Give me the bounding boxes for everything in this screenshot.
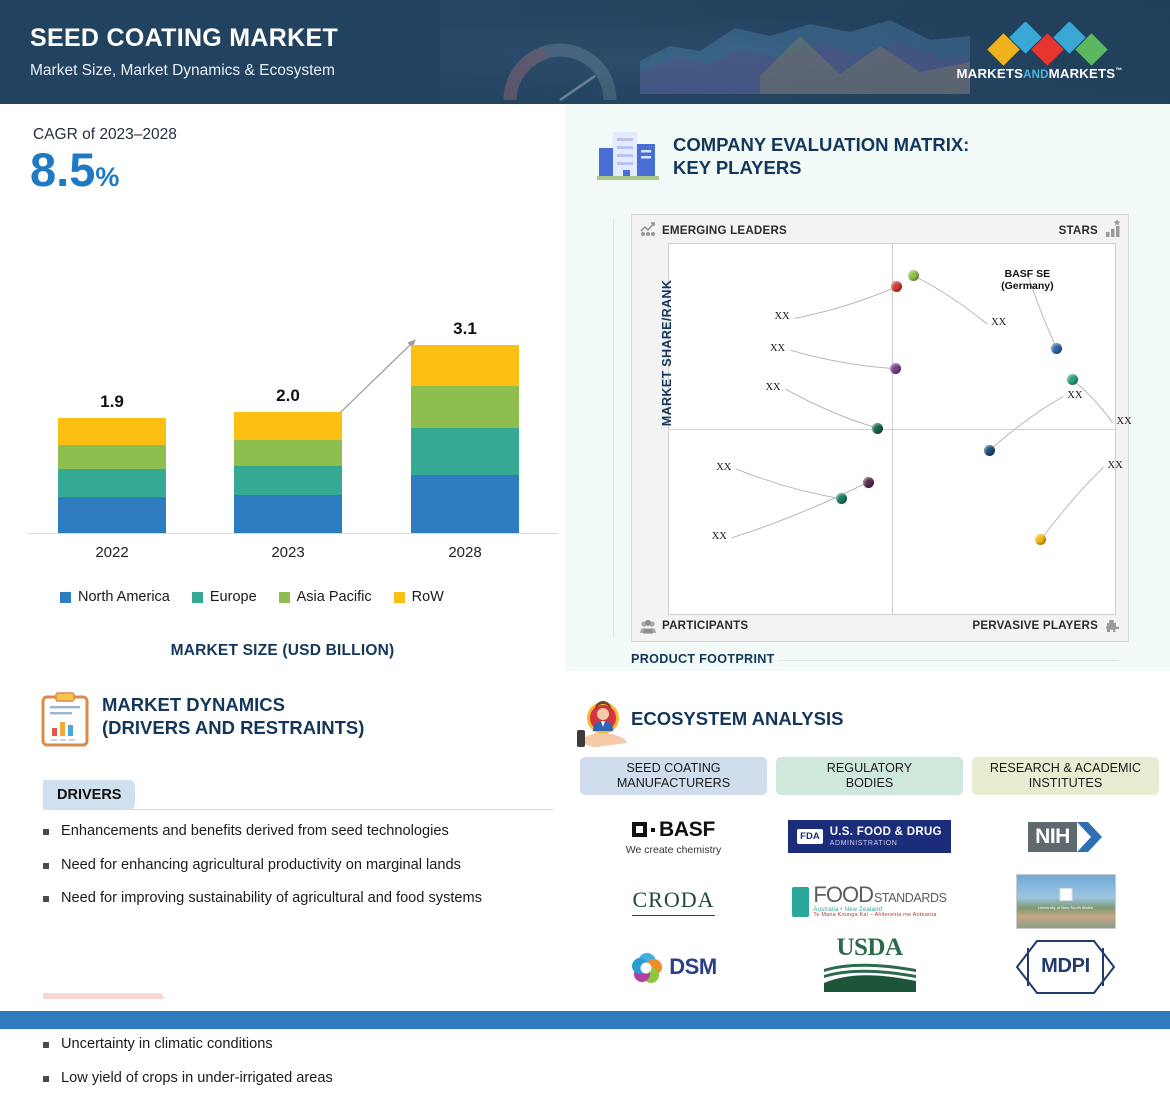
matrix-point-label: XX <box>712 531 727 542</box>
left-column: CAGR of 2023–2028 8.5% 1.920222.020233.1… <box>0 104 565 999</box>
bar-segment-north-america <box>411 475 519 533</box>
market-dynamics-title: MARKET DYNAMICS (DRIVERS AND RESTRAINTS) <box>102 694 542 740</box>
bar-stack <box>411 345 519 533</box>
bottom-accent-bar <box>0 1011 1170 1029</box>
ecosystem-heading-research: RESEARCH & ACADEMICINSTITUTES <box>972 757 1159 795</box>
bullet-square-icon <box>43 896 49 902</box>
usda-name: USDA <box>824 936 916 960</box>
matrix-company-label: BASF SE(Germany) <box>989 268 1065 293</box>
matrix-y-axis-rule <box>613 218 614 638</box>
logo-basf: BASF We create chemistry <box>580 804 767 869</box>
clipboard-chart-icon <box>40 692 90 748</box>
bar-total-label: 2.0 <box>234 386 342 406</box>
right-column: COMPANY EVALUATION MATRIX: KEY PLAYERS E… <box>565 104 1170 999</box>
matrix-leader-line <box>794 287 896 319</box>
bullet-square-icon <box>43 863 49 869</box>
matrix-company-label-line2: (Germany) <box>1001 280 1054 292</box>
logo-unsw: University of New South Wales <box>972 869 1159 934</box>
matrix-x-axis-rule <box>779 660 1119 661</box>
driver-item: Enhancements and benefits derived from s… <box>43 822 543 842</box>
drivers-label: DRIVERS <box>43 780 135 810</box>
logo-dsm: DSM <box>580 934 767 999</box>
header-chart-graphic <box>640 6 970 94</box>
bar-segment-europe <box>234 466 342 496</box>
food-standards-sub2: Te Mana Kounga Kai – Ahitereiria me Aote… <box>813 913 946 919</box>
legend-item-asia-pacific[interactable]: Asia Pacific <box>279 589 372 605</box>
dsm-swirl-icon <box>630 950 664 984</box>
matrix-point-label: XX <box>774 311 789 322</box>
logo-nih: NIH <box>972 804 1159 869</box>
matrix-company-dot[interactable] <box>1051 343 1062 354</box>
mdpi-name: MDPI <box>1041 955 1090 978</box>
bullet-square-icon <box>43 1042 49 1048</box>
legend-swatch-icon <box>60 592 71 603</box>
market-size-stacked-bar-chart: 1.920222.020233.12028 <box>28 269 558 569</box>
page-header: SEED COATING MARKET Market Size, Market … <box>0 0 1170 104</box>
matrix-company-dot[interactable] <box>863 477 874 488</box>
quadrant-label-participants: PARTICIPANTS <box>662 619 748 632</box>
bar-segment-europe <box>411 428 519 475</box>
matrix-company-dot[interactable] <box>984 445 995 456</box>
basf-name: BASF <box>659 818 715 842</box>
chart-axis-line <box>28 533 558 534</box>
quadrant-label-emerging-leaders: EMERGING LEADERS <box>662 224 787 237</box>
chart-caption: MARKET SIZE (USD BILLION) <box>0 642 565 660</box>
emerging-leaders-icon <box>640 222 656 237</box>
unsw-crest-icon <box>1059 888 1072 901</box>
matrix-point-label: XX <box>765 382 780 393</box>
bar-segment-row <box>58 418 166 445</box>
legend-label: RoW <box>412 589 444 605</box>
legend-item-europe[interactable]: Europe <box>192 589 257 605</box>
matrix-x-axis-label: PRODUCT FOOTPRINT <box>631 652 775 666</box>
legend-swatch-icon <box>394 592 405 603</box>
legend-label: North America <box>78 589 170 605</box>
cagr-percent-sign: % <box>95 162 119 192</box>
dsm-name: DSM <box>669 954 716 980</box>
usda-field-icon <box>824 959 916 992</box>
market-dynamics-title-line2: (DRIVERS AND RESTRAINTS) <box>102 717 542 740</box>
ecosystem-heading-regulatory: REGULATORYBODIES <box>776 757 963 795</box>
company-matrix-title-line2: KEY PLAYERS <box>673 157 1133 180</box>
bottom-spacer <box>0 999 1170 1011</box>
logo-part2: MARKETS <box>1049 66 1116 81</box>
quadrant-label-stars: STARS <box>1059 224 1098 237</box>
bar-segment-row <box>411 345 519 386</box>
matrix-company-dot[interactable] <box>1067 374 1078 385</box>
matrix-leader-line <box>785 389 877 428</box>
matrix-frame: EMERGING LEADERS STARS PARTICI <box>631 214 1129 642</box>
eco-head-1-line1: SEED COATING <box>626 761 720 775</box>
matrix-plot-area: XXXXBASF SE(Germany)XXXXXXXXXXXXXX <box>668 243 1116 615</box>
ecosystem-heading-manufacturers: SEED COATINGMANUFACTURERS <box>580 757 767 795</box>
fda-line1: U.S. FOOD & DRUG <box>830 826 942 839</box>
restraint-item: Low yield of crops in under-irrigated ar… <box>43 1069 543 1089</box>
page-subtitle: Market Size, Market Dynamics & Ecosystem <box>30 62 335 80</box>
drivers-band: DRIVERS <box>43 780 553 810</box>
logo-diamonds-icon <box>947 22 1132 68</box>
legend-item-row[interactable]: RoW <box>394 589 444 605</box>
food-standards-mark-icon <box>792 887 809 917</box>
bar-total-label: 1.9 <box>58 392 166 412</box>
chart-legend: North AmericaEuropeAsia PacificRoW <box>60 589 530 605</box>
restraints-list: Uncertainty in climatic conditionsLow yi… <box>43 1035 543 1102</box>
matrix-company-dot[interactable] <box>890 363 901 374</box>
matrix-point-label: XX <box>770 343 785 354</box>
nih-name: NIH <box>1028 822 1077 852</box>
page-title: SEED COATING MARKET <box>30 24 338 53</box>
bar-segment-asia-pacific <box>234 440 342 466</box>
unsw-name: University of New South Wales <box>1017 905 1115 910</box>
eco-head-3-line1: RESEARCH & ACADEMIC <box>990 761 1141 775</box>
food-standards-food: FOOD <box>813 884 873 906</box>
eco-head-2-line2: BODIES <box>846 776 894 790</box>
logo-food-standards: FOOD STANDARDS Australia • New Zealand T… <box>776 869 963 934</box>
logo-mdpi: MDPI <box>972 934 1159 999</box>
evaluation-matrix: EMERGING LEADERS STARS PARTICI <box>631 214 1129 642</box>
stars-bars-icon <box>1105 219 1121 237</box>
cagr-number: 8.5 <box>30 143 95 196</box>
matrix-y-axis-label: MARKET SHARE/RANK <box>660 273 674 433</box>
bar-segment-asia-pacific <box>411 386 519 427</box>
ecosystem-column-headings: SEED COATINGMANUFACTURERS REGULATORYBODI… <box>580 757 1160 795</box>
food-standards-standards: STANDARDS <box>874 892 947 905</box>
bullet-text: Low yield of crops in under-irrigated ar… <box>61 1069 333 1089</box>
driver-item: Need for improving sustainability of agr… <box>43 889 543 909</box>
eco-head-2-line1: REGULATORY <box>827 761 912 775</box>
bar-group: 3.1 <box>411 315 519 533</box>
matrix-point-label: XX <box>991 317 1006 328</box>
bar-segment-north-america <box>234 495 342 533</box>
x-axis-tick-2028: 2028 <box>415 544 515 561</box>
croda-name: CRODA <box>632 887 714 916</box>
ecosystem-row: BASF We create chemistry FDA U.S. FOOD &… <box>580 804 1160 869</box>
ecosystem-row: CRODA FOOD STANDARDS Australia • New Zea… <box>580 869 1160 934</box>
bullet-text: Enhancements and benefits derived from s… <box>61 822 449 842</box>
bullet-text: Need for improving sustainability of agr… <box>61 889 482 909</box>
matrix-leader-line <box>732 482 869 538</box>
fda-line2: ADMINISTRATION <box>830 840 942 847</box>
ecosystem-row: DSM USDA <box>580 934 1160 999</box>
logo-fda: FDA U.S. FOOD & DRUG ADMINISTRATION <box>776 804 963 869</box>
cagr-value: 8.5% <box>30 146 119 193</box>
eco-head-1-line2: MANUFACTURERS <box>617 776 730 790</box>
bullet-square-icon <box>43 1076 49 1082</box>
matrix-company-dot[interactable] <box>908 270 919 281</box>
matrix-company-label-line1: BASF SE <box>1005 268 1051 280</box>
x-axis-tick-2023: 2023 <box>238 544 338 561</box>
ecosystem-logo-grid: BASF We create chemistry FDA U.S. FOOD &… <box>580 804 1160 999</box>
legend-label: Asia Pacific <box>297 589 372 605</box>
office-buildings-icon <box>597 126 659 184</box>
matrix-leader-line <box>790 350 895 369</box>
company-matrix-title: COMPANY EVALUATION MATRIX: KEY PLAYERS <box>673 134 1133 180</box>
matrix-point-label: XX <box>716 462 731 473</box>
market-dynamics-title-line1: MARKET DYNAMICS <box>102 694 542 717</box>
bar-stack <box>58 418 166 533</box>
quadrant-label-pervasive-players: PERVASIVE PLAYERS <box>972 619 1098 632</box>
basf-dot-icon <box>651 828 655 832</box>
infographic-page: SEED COATING MARKET Market Size, Market … <box>0 0 1170 1029</box>
bar-group: 2.0 <box>234 382 342 533</box>
basf-tagline: We create chemistry <box>626 844 722 856</box>
matrix-point-label: XX <box>1108 460 1123 471</box>
matrix-point-label: XX <box>1117 416 1132 427</box>
logo-and: AND <box>1023 69 1049 81</box>
bar-segment-asia-pacific <box>58 445 166 469</box>
bar-segment-europe <box>58 469 166 497</box>
company-evaluation-panel: COMPANY EVALUATION MATRIX: KEY PLAYERS E… <box>565 104 1170 671</box>
bar-segment-row <box>234 412 342 440</box>
person-in-hand-icon <box>575 700 631 752</box>
driver-item: Need for enhancing agricultural producti… <box>43 856 543 876</box>
ecosystem-title: ECOSYSTEM ANALYSIS <box>631 708 843 730</box>
puzzle-piece-icon <box>1105 619 1122 635</box>
matrix-leader-line <box>989 397 1063 451</box>
matrix-leader-line <box>1072 380 1112 423</box>
legend-swatch-icon <box>279 592 290 603</box>
x-axis-tick-2022: 2022 <box>62 544 162 561</box>
matrix-leader-line <box>1041 467 1104 540</box>
legend-item-north-america[interactable]: North America <box>60 589 170 605</box>
logo-croda: CRODA <box>580 869 767 934</box>
eco-head-3-line2: INSTITUTES <box>1029 776 1102 790</box>
bullet-text: Need for enhancing agricultural producti… <box>61 856 461 876</box>
matrix-company-dot[interactable] <box>872 423 883 434</box>
brand-logo[interactable]: MARKETSANDMARKETS™ <box>947 22 1132 84</box>
bar-segment-north-america <box>58 497 166 533</box>
header-gauge-graphic <box>500 42 620 104</box>
bar-total-label: 3.1 <box>411 319 519 339</box>
logo-wordmark: MARKETSANDMARKETS™ <box>947 66 1132 81</box>
logo-part1: MARKETS <box>957 66 1024 81</box>
fda-badge: FDA <box>797 829 823 844</box>
logo-tm: ™ <box>1115 68 1122 75</box>
matrix-leader-lines <box>669 244 1115 614</box>
matrix-leader-line <box>736 469 841 499</box>
bar-group: 1.9 <box>58 388 166 533</box>
matrix-leader-line <box>913 276 987 324</box>
legend-label: Europe <box>210 589 257 605</box>
cagr-label: CAGR of 2023–2028 <box>33 126 177 144</box>
basf-square-icon <box>632 822 647 837</box>
drivers-list: Enhancements and benefits derived from s… <box>43 822 543 923</box>
bullet-square-icon <box>43 829 49 835</box>
bullet-text: Uncertainty in climatic conditions <box>61 1035 273 1055</box>
participants-people-icon <box>640 620 656 634</box>
company-matrix-title-line1: COMPANY EVALUATION MATRIX: <box>673 134 1133 157</box>
restraint-item: Uncertainty in climatic conditions <box>43 1035 543 1055</box>
nih-chevron-icon <box>1077 822 1103 852</box>
logo-usda: USDA <box>776 934 963 999</box>
bar-stack <box>234 412 342 533</box>
legend-swatch-icon <box>192 592 203 603</box>
matrix-point-label: XX <box>1067 390 1082 401</box>
